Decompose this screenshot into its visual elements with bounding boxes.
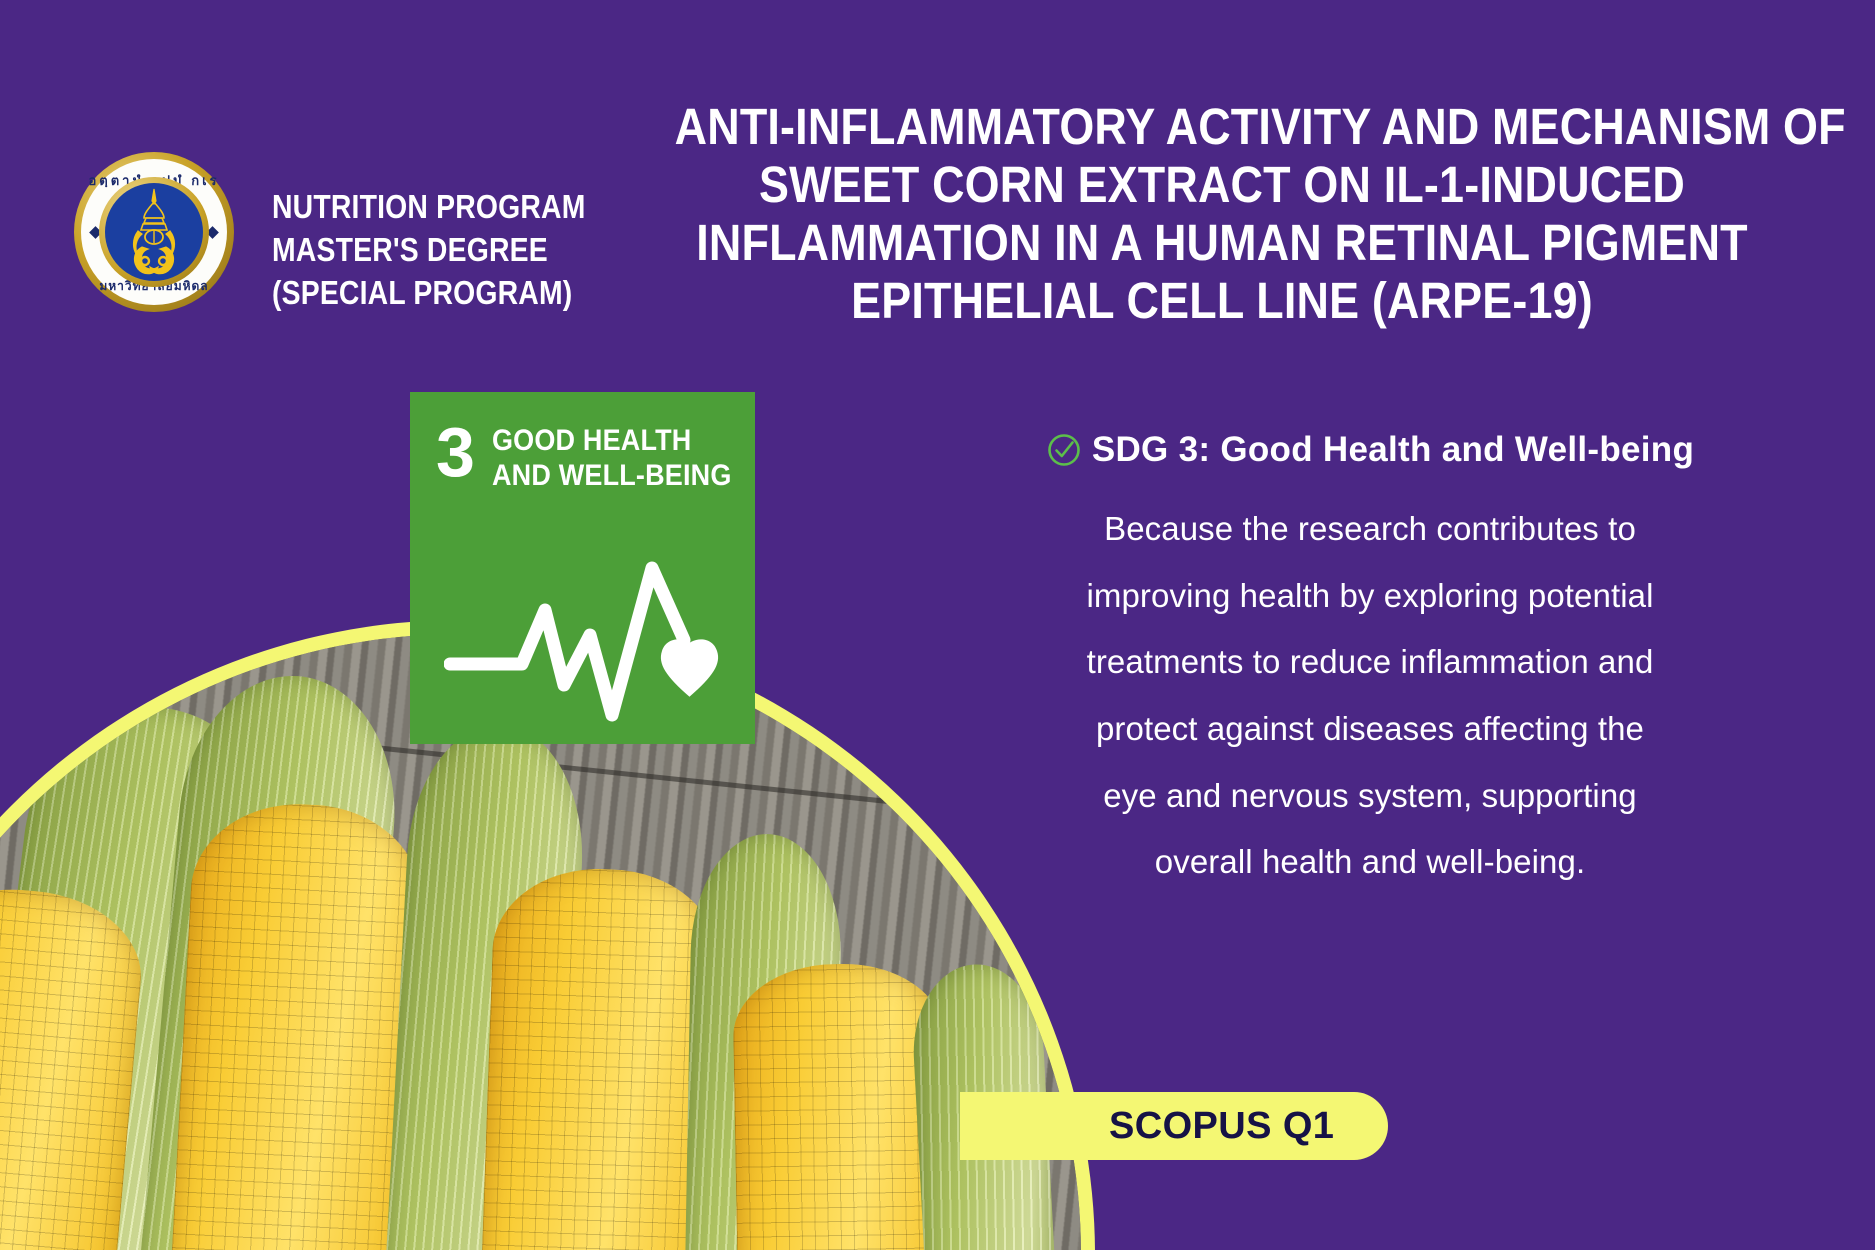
program-name: NUTRITION PROGRAM MASTER'S DEGREE (SPECI… (272, 186, 556, 315)
seal-thai-emblem-icon (112, 187, 196, 277)
sdg-number: 3 (436, 420, 474, 484)
poster-canvas: อตฺตานํ อุปมํ กเร มหาวิทยาลัยมหิดล (0, 0, 1875, 1250)
seal-blue-field (105, 183, 203, 281)
title-line: INFLAMMATION IN A HUMAN RETINAL PIGMENT (675, 214, 1770, 272)
sdg-heading-row: SDG 3: Good Health and Well-being (940, 430, 1800, 470)
sdg-body-text: Because the research contributes to impr… (940, 496, 1800, 896)
sdg-3-badge: 3 GOOD HEALTH AND WELL-BEING (410, 392, 755, 744)
title-line: EPITHELIAL CELL LINE (ARPE-19) (675, 272, 1770, 330)
sdg-heading: SDG 3: Good Health and Well-being (1092, 430, 1694, 470)
sdg-explanation-panel: SDG 3: Good Health and Well-being Becaus… (940, 430, 1800, 896)
program-name-line: (SPECIAL PROGRAM) (272, 272, 556, 315)
corn-cob (463, 865, 721, 1250)
title-line: ANTI-INFLAMMATORY ACTIVITY AND MECHANISM… (675, 98, 1770, 156)
program-name-line: MASTER'S DEGREE (272, 229, 556, 272)
mahidol-university-seal-icon: อตฺตานํ อุปมํ กเร มหาวิทยาลัยมหิดล (74, 152, 234, 312)
sdg-body-line: eye and nervous system, supporting (940, 763, 1800, 830)
heartbeat-heart-icon (444, 552, 729, 722)
sdg-badge-header: 3 GOOD HEALTH AND WELL-BEING (436, 420, 758, 494)
page-title: ANTI-INFLAMMATORY ACTIVITY AND MECHANISM… (600, 98, 1844, 330)
circle-check-icon (1046, 432, 1082, 468)
sdg-body-line: treatments to reduce inflammation and (940, 629, 1800, 696)
sdg-label: GOOD HEALTH AND WELL-BEING (492, 420, 731, 494)
program-name-line: NUTRITION PROGRAM (272, 186, 556, 229)
sdg-body-line: Because the research contributes to (940, 496, 1800, 563)
sdg-body-line: protect against diseases affecting the (940, 696, 1800, 763)
scopus-badge-tail (960, 1092, 1080, 1160)
sdg-label-line: GOOD HEALTH (492, 424, 731, 459)
sdg-body-line: overall health and well-being. (940, 829, 1800, 896)
sdg-body-line: improving health by exploring potential (940, 563, 1800, 630)
sdg-label-line: AND WELL-BEING (492, 459, 731, 494)
scopus-q1-badge: SCOPUS Q1 (1065, 1092, 1388, 1160)
title-line: SWEET CORN EXTRACT ON IL-1-INDUCED (675, 156, 1770, 214)
